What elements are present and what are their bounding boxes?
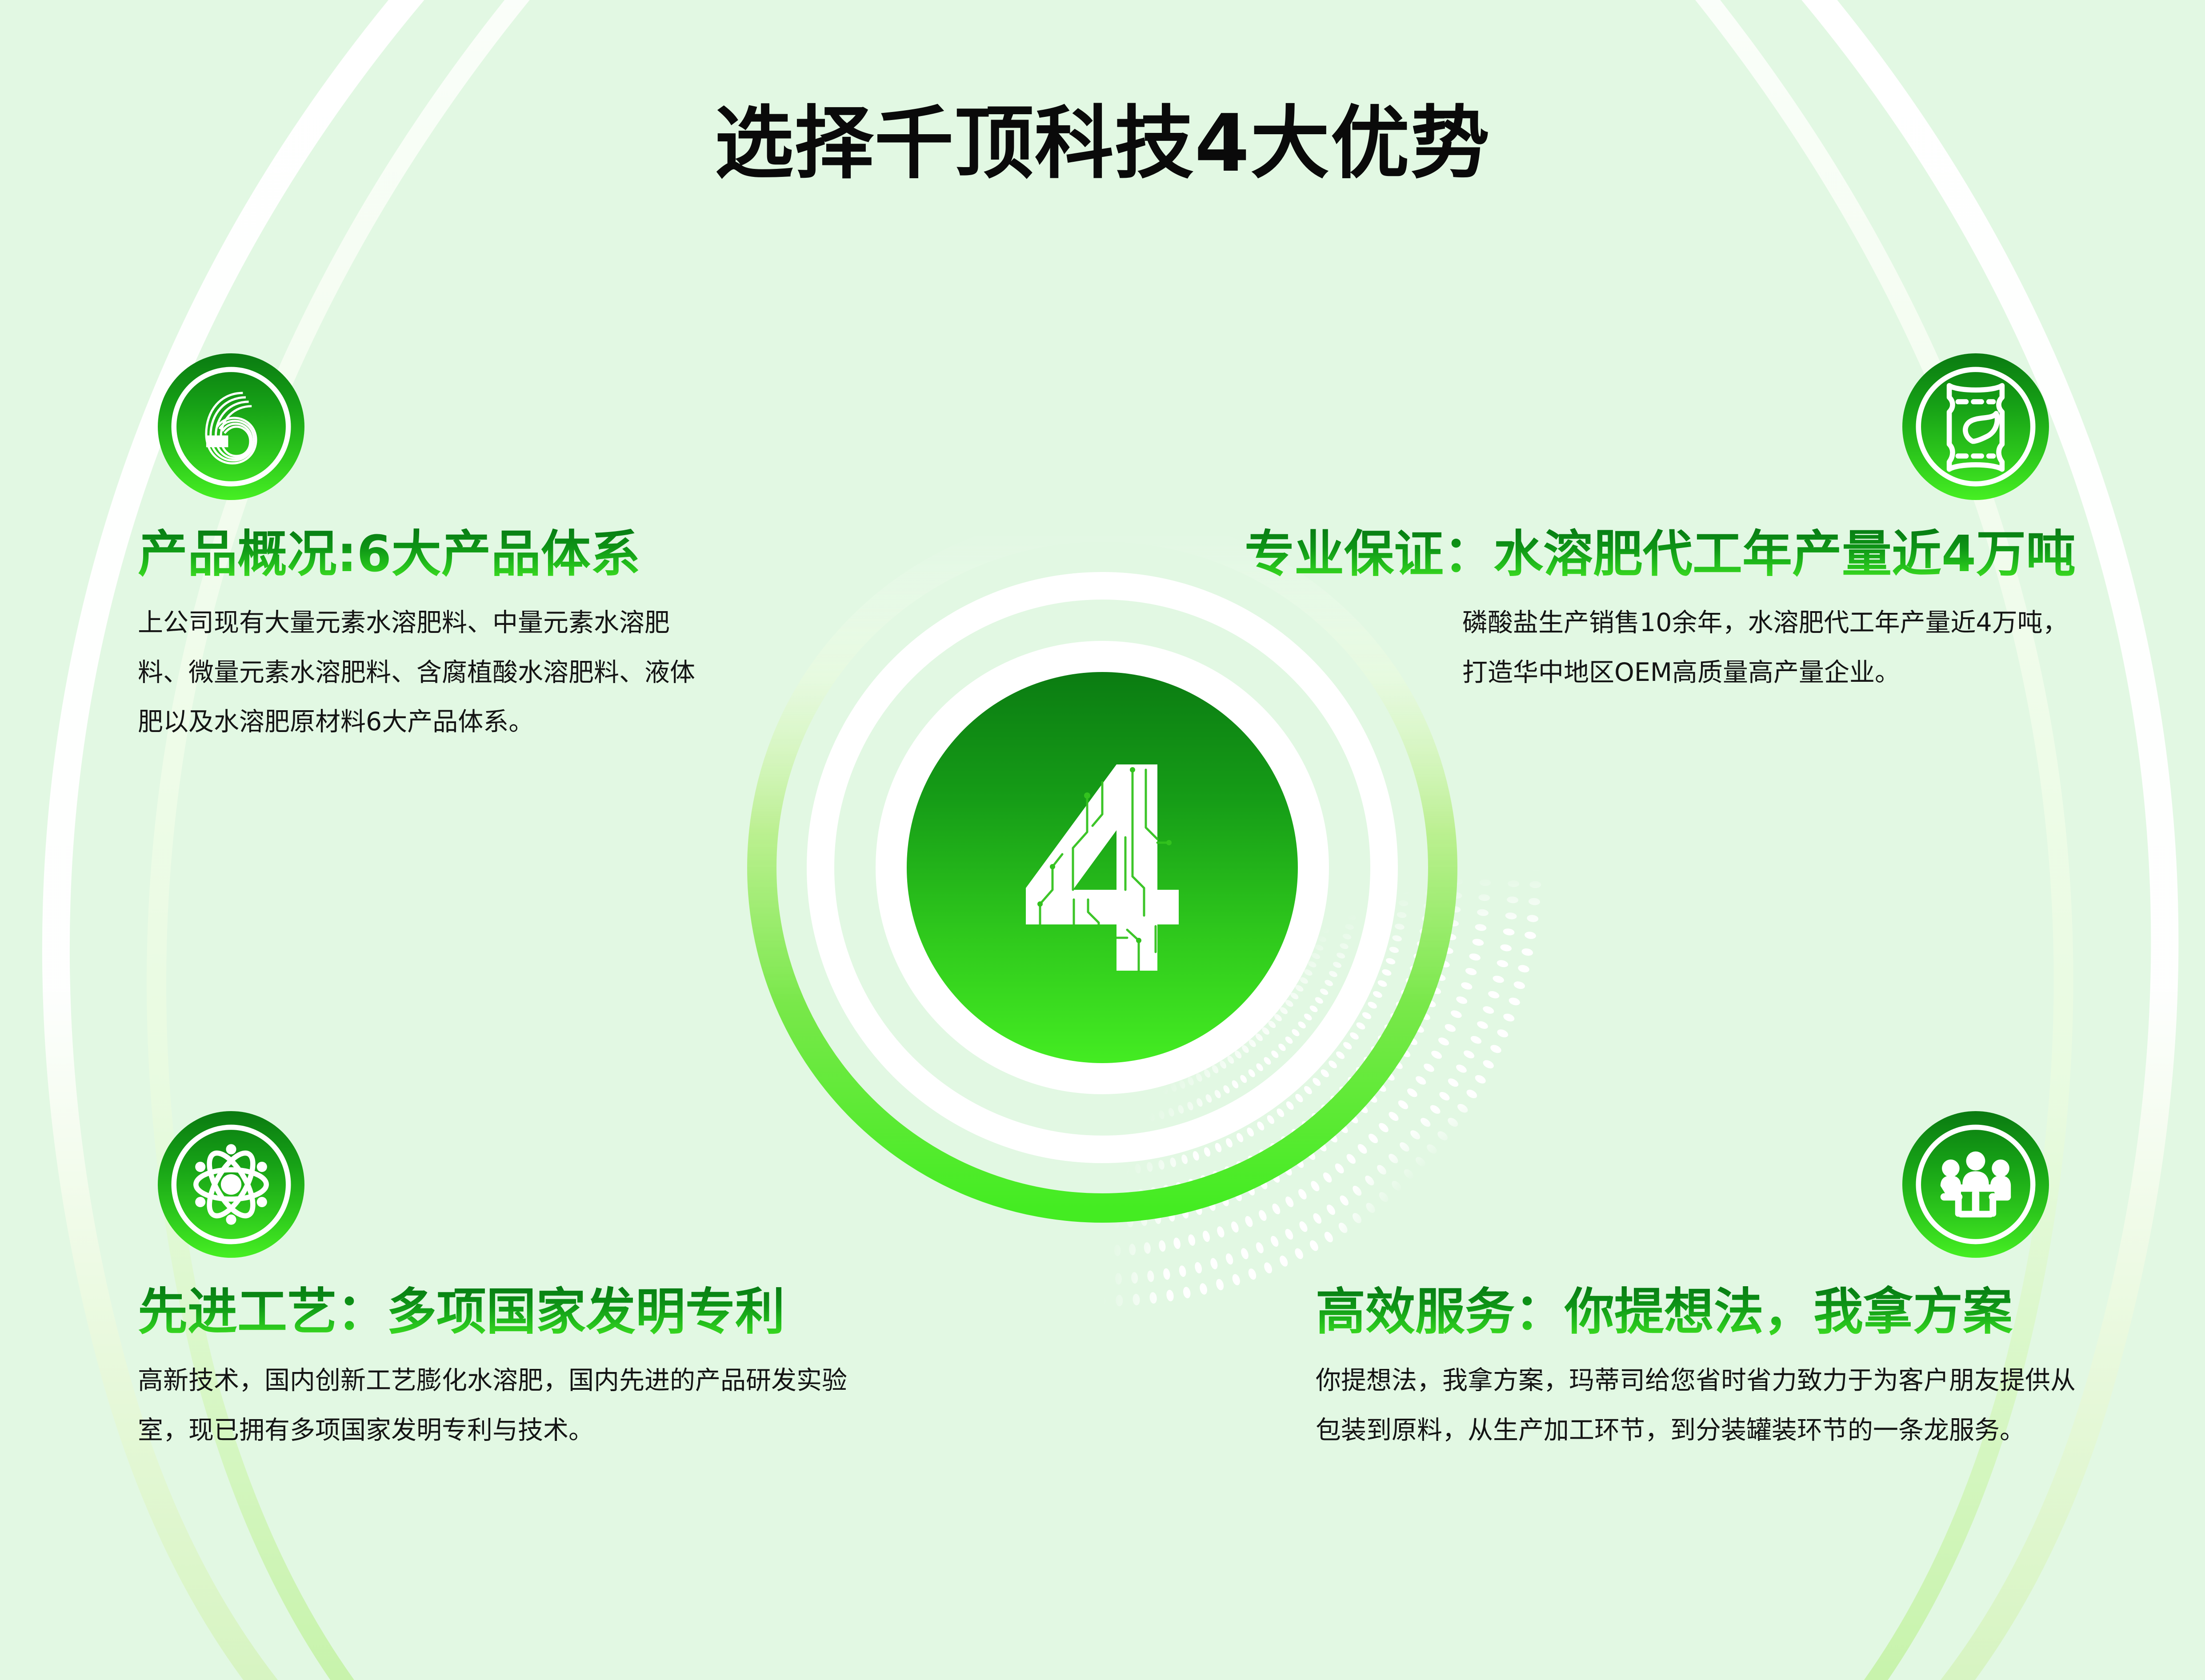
feature-body: 你提想法，我拿方案，玛蒂司给您省时省力致力于为客户朋友提供从包装到原料，从生产加… [1316, 1356, 2080, 1455]
badge-efficient-service[interactable] [1902, 1111, 2049, 1258]
atom-icon [158, 1111, 304, 1258]
feature-heading: 产品概况:6大产品体系 [138, 527, 702, 582]
feature-body: 高新技术，国内创新工艺膨化水溶肥，国内先进的产品研发实验室，现已拥有多项国家发明… [138, 1356, 893, 1455]
badge-production-capacity[interactable] [1902, 353, 2049, 500]
feature-block-advanced-process: 先进工艺：多项国家发明专利 高新技术，国内创新工艺膨化水溶肥，国内先进的产品研发… [138, 1284, 893, 1455]
center-graphic [569, 334, 1636, 1401]
feature-heading: 先进工艺：多项国家发明专利 [138, 1284, 893, 1340]
feature-heading: 高效服务：你提想法，我拿方案 [1316, 1284, 2080, 1340]
feature-block-efficient-service: 高效服务：你提想法，我拿方案 你提想法，我拿方案，玛蒂司给您省时省力致力于为客户… [1316, 1284, 2080, 1455]
feature-block-production-capacity: 专业保证：水溶肥代工年产量近4万吨 磷酸盐生产销售10余年，水溶肥代工年产量近4… [1196, 527, 2076, 697]
feature-body: 上公司现有大量元素水溶肥料、中量元素水溶肥料、微量元素水溶肥料、含腐植酸水溶肥料… [138, 598, 702, 746]
page-title: 选择千顶科技4大优势 [0, 102, 2205, 185]
center-number-circle [907, 672, 1298, 1063]
meeting-team-icon [1902, 1111, 2049, 1258]
badge-product-overview[interactable] [158, 353, 304, 500]
number-six-badge-icon [158, 353, 304, 500]
infographic-canvas: 选择千顶科技4大优势 [0, 0, 2205, 1680]
fertilizer-bag-icon [1902, 353, 2049, 500]
badge-advanced-process[interactable] [158, 1111, 304, 1258]
feature-body: 磷酸盐生产销售10余年，水溶肥代工年产量近4万吨，打造华中地区OEM高质量高产量… [1462, 598, 2076, 697]
circuit-number-four-icon [978, 743, 1227, 992]
feature-block-product-overview: 产品概况:6大产品体系 上公司现有大量元素水溶肥料、中量元素水溶肥料、微量元素水… [138, 527, 702, 747]
feature-heading: 专业保证：水溶肥代工年产量近4万吨 [1196, 527, 2076, 582]
